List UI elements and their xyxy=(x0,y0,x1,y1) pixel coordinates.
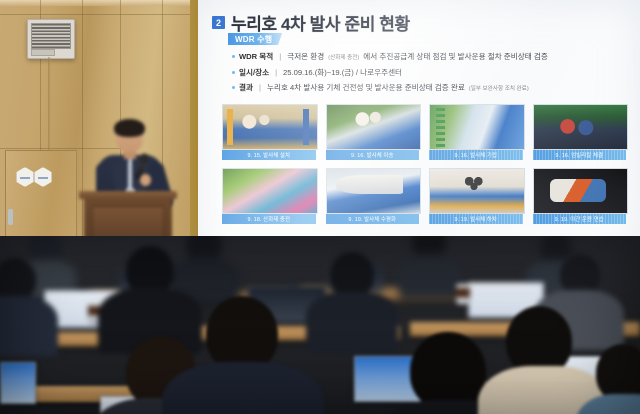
photo-caption-bar: 9. 19. 발사체 하차 xyxy=(429,214,523,224)
bullet-text-rest: 에서 추진공급계 상태 점검 및 발사운용 절차 준비상태 검증 xyxy=(363,52,548,61)
photo-caption: 9. 16. 발사체 기립 xyxy=(454,151,497,159)
bullet-text: 25.09.16.(화)~19.(금) / 나로우주센터 xyxy=(283,68,402,77)
bullet-label: 결과 xyxy=(239,83,253,92)
bullet-text-small: (일부 보완사항 조치 완료) xyxy=(469,86,529,93)
bullet-item: 일시/장소 | 25.09.16.(화)~19.(금) / 나로우주센터 xyxy=(232,68,632,77)
photo-thumbnail xyxy=(326,168,422,214)
slide-header: 2 누리호 4차 발사 준비 현황 xyxy=(212,10,410,35)
photo-caption: 9. 19. 야간 운용 연습 xyxy=(555,215,604,223)
photo-caption-bar: 9. 19. 야간 운용 연습 xyxy=(533,214,627,224)
presentation-slide: 2 누리호 4차 발사 준비 현황 WDR 수행 WDR 목적 | 극저온 환경… xyxy=(198,0,640,262)
photo-caption: 9. 19. 발사체 수평화 xyxy=(348,215,396,223)
photo-thumbnail xyxy=(326,104,422,150)
bullet-text: 극저온 환경 xyxy=(287,52,324,61)
ceiling-band xyxy=(0,0,200,6)
presenter-hand xyxy=(140,174,151,186)
bullet-text-small: (산화제 충전) xyxy=(328,55,359,62)
photo-thumbnail xyxy=(222,104,318,150)
bullet-separator: | xyxy=(259,83,261,92)
photo-thumbnail xyxy=(429,168,525,214)
projection-screen: 2 누리호 4차 발사 준비 현황 WDR 수행 WDR 목적 | 극저온 환경… xyxy=(198,0,640,262)
photo-caption-bar: 9. 18. 산화제 충전 xyxy=(222,214,316,224)
photo-caption: 9. 18. 산화제 충전 xyxy=(247,215,290,223)
photo-cell: 9. 16. 엄빌리칼 체결 xyxy=(533,104,627,160)
photo-thumbnail xyxy=(533,104,629,150)
bullet-item: 결과 | 누리호 4차 발사용 기체 건전성 및 발사운용 준비상태 검증 완료… xyxy=(232,83,632,93)
photo-caption-bar: 9. 16. 발사체 기립 xyxy=(429,150,523,160)
photo-thumbnail xyxy=(533,168,629,214)
bullet-item: WDR 목적 | 극저온 환경(산화제 충전)에서 추진공급계 상태 점검 및 … xyxy=(232,52,632,62)
photo-cell: 9. 16. 발사체 기립 xyxy=(429,104,523,160)
photo-caption: 9. 15. 발사체 설치 xyxy=(247,151,290,159)
bullet-text: 누리호 4차 발사용 기체 건전성 및 발사운용 준비상태 검증 완료 xyxy=(267,83,465,92)
bullet-dot-icon xyxy=(232,55,235,58)
briefing-photo: 2 누리호 4차 발사 준비 현황 WDR 수행 WDR 목적 | 극저온 환경… xyxy=(0,0,640,414)
slide-tag-badge: WDR 수행 xyxy=(228,33,282,45)
photo-caption-bar: 9. 15. 발사체 설치 xyxy=(222,150,316,160)
photo-thumbnail xyxy=(222,168,318,214)
slide-title: 누리호 4차 발사 준비 현황 xyxy=(231,10,410,35)
photo-cell: 9. 19. 발사체 하차 xyxy=(429,168,523,224)
photo-caption: 9. 19. 발사체 하차 xyxy=(454,215,497,223)
presenter-hair xyxy=(114,119,145,137)
door-sign-icon xyxy=(34,167,52,187)
photo-cell: 9. 15. 발사체 설치 xyxy=(222,104,316,160)
bullet-dot-icon xyxy=(232,86,235,89)
wall-seam xyxy=(0,14,200,15)
photo-cell: 9. 19. 야간 운용 연습 xyxy=(533,168,627,224)
wall-vent-icon xyxy=(27,19,75,59)
door-sign-icon xyxy=(16,167,34,187)
photo-caption: 9. 16. 엄빌리칼 체결 xyxy=(555,151,603,159)
bullet-label: 일시/장소 xyxy=(239,68,269,77)
slide-section-number: 2 xyxy=(212,16,225,29)
bullet-dot-icon xyxy=(232,71,235,74)
bullet-label: WDR 목적 xyxy=(239,52,273,61)
bullet-separator: | xyxy=(275,68,277,77)
photo-caption-bar: 9. 19. 발사체 수평화 xyxy=(326,214,420,224)
photo-caption-bar: 9. 16. 엄빌리칼 체결 xyxy=(533,150,627,160)
photo-thumbnail xyxy=(429,104,525,150)
photo-caption: 9. 16. 발사체 이송 xyxy=(351,151,394,159)
audience-area xyxy=(0,236,640,414)
photo-grid: 9. 15. 발사체 설치 9. 16. 발사체 이송 9. 16. 발사체 기… xyxy=(222,104,626,224)
bullet-separator: | xyxy=(279,52,281,61)
slide-bullet-list: WDR 목적 | 극저온 환경(산화제 충전)에서 추진공급계 상태 점검 및 … xyxy=(232,52,632,99)
photo-caption-bar: 9. 16. 발사체 이송 xyxy=(326,150,420,160)
photo-cell: 9. 16. 발사체 이송 xyxy=(326,104,420,160)
photo-cell: 9. 18. 산화제 충전 xyxy=(222,168,316,224)
door-handle xyxy=(8,209,13,225)
photo-cell: 9. 19. 발사체 수평화 xyxy=(326,168,420,224)
wall-seam xyxy=(82,0,83,268)
